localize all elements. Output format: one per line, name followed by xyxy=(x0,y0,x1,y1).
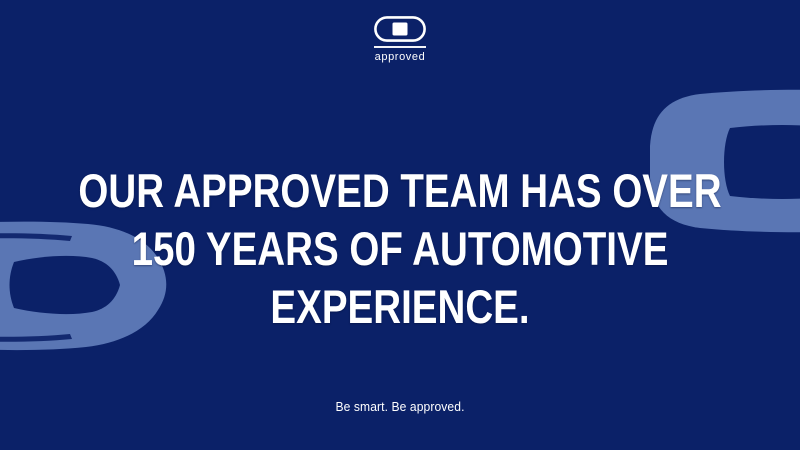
brand-divider-rule xyxy=(374,46,426,48)
headline-line-1: OUR APPROVED TEAM HAS OVER xyxy=(72,162,728,220)
brand-wordmark: approved xyxy=(375,52,426,63)
approved-promo-slide: approved OUR APPROVED TEAM HAS OVER 150 … xyxy=(0,0,800,450)
tagline: Be smart. Be approved. xyxy=(28,399,772,414)
page-title: OUR APPROVED TEAM HAS OVER 150 YEARS OF … xyxy=(72,162,728,336)
car-top-view-icon xyxy=(374,16,426,42)
headline-line-2: 150 YEARS OF AUTOMOTIVE xyxy=(72,220,728,278)
headline-line-3: EXPERIENCE. xyxy=(72,278,728,336)
brand-lockup: approved xyxy=(0,16,800,63)
